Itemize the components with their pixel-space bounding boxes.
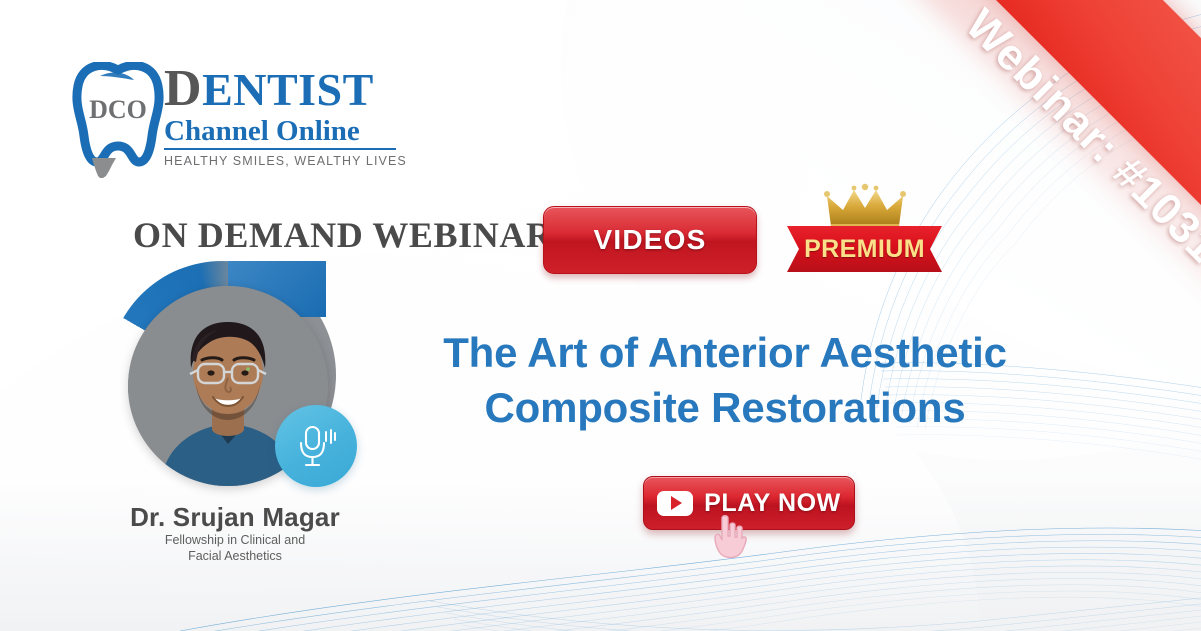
brand-logo[interactable]: DCO DENTIST Channel Online HEALTHY SMILE… [72,60,412,178]
speaker-credentials-line1: Fellowship in Clinical and [165,533,305,547]
hand-cursor-icon [707,512,751,560]
videos-button-label: VIDEOS [593,224,706,256]
logo-name-dentist: DENTIST [164,64,414,115]
webinar-promo-banner: DCO DENTIST Channel Online HEALTHY SMILE… [0,0,1201,631]
premium-label: PREMIUM [804,235,925,264]
crown-icon [823,182,907,232]
premium-ribbon: PREMIUM [787,226,942,272]
logo-name-rest: ENTIST [202,64,374,115]
on-demand-webinar-label: ON DEMAND WEBINAR [133,214,553,256]
premium-badge: PREMIUM [787,182,942,277]
logo-wordmark: DENTIST Channel Online HEALTHY SMILES, W… [164,64,414,168]
logo-divider [164,148,396,150]
videos-button[interactable]: VIDEOS [543,206,757,274]
tooth-implant-icon: DCO [72,62,164,178]
webinar-title-line1: The Art of Anterior Aesthetic [443,329,1007,376]
webinar-title-line2: Composite Restorations [355,380,1095,435]
webinar-title: The Art of Anterior Aesthetic Composite … [355,325,1095,436]
speaker-name: Dr. Srujan Magar [100,502,370,533]
logo-letter-d: D [164,60,202,117]
logo-name-channel-online: Channel Online [164,116,414,146]
logo-monogram: DCO [89,95,147,124]
microphone-badge [275,405,357,487]
microphone-icon [294,423,338,469]
logo-tagline: HEALTHY SMILES, WEALTHY LIVES [164,154,414,168]
speaker-credentials: Fellowship in Clinical and Facial Aesthe… [100,533,370,564]
youtube-play-icon [657,491,693,516]
speaker-credentials-line2: Facial Aesthetics [188,549,282,563]
